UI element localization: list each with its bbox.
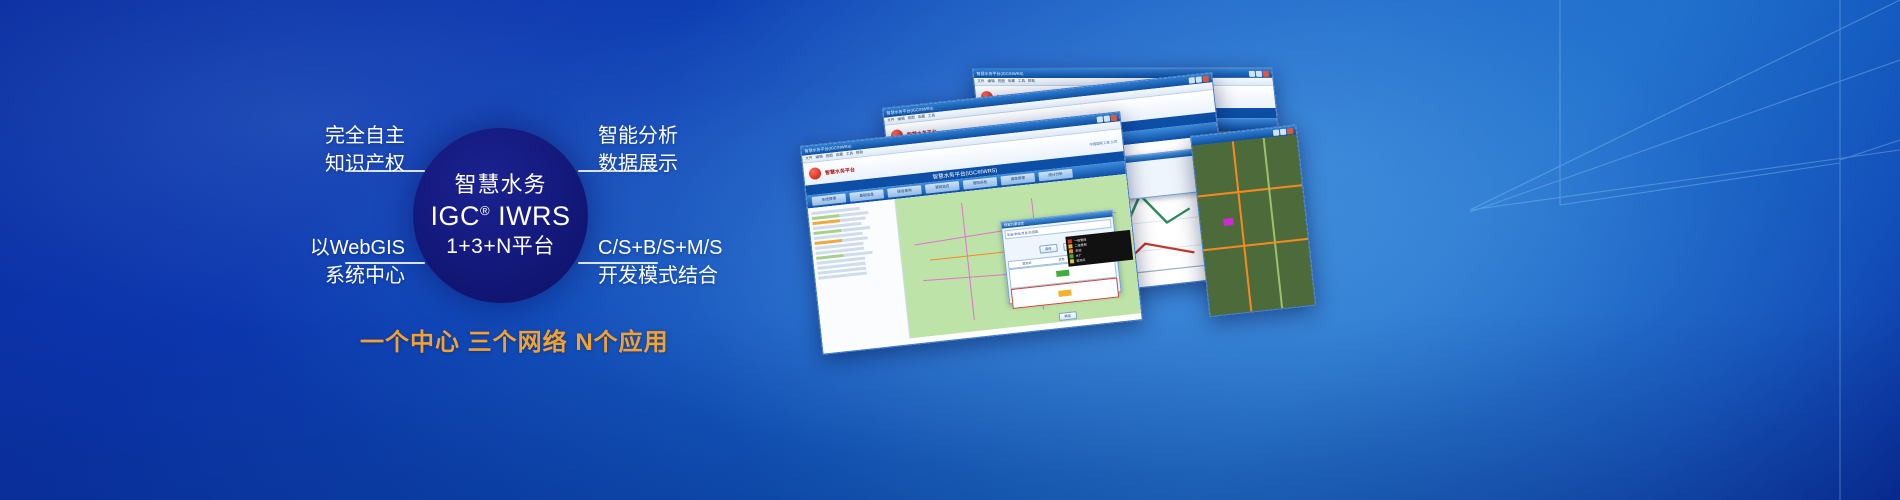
hub-brand-igc: IGC <box>430 201 480 231</box>
menu-item-2[interactable]: 视图 <box>997 79 1005 84</box>
maximize-icon[interactable] <box>1103 115 1110 122</box>
menu-item-1[interactable]: 编辑 <box>815 155 823 161</box>
central-hub-circle: 智慧水务 IGC® IWRS 1+3+N平台 <box>413 128 588 303</box>
minimize-icon[interactable] <box>1188 77 1195 84</box>
menu-item-3[interactable]: 收藏 <box>836 152 844 158</box>
legend-color-icon <box>1070 254 1074 258</box>
menu-item-3[interactable]: 收藏 <box>918 114 926 120</box>
close-icon[interactable] <box>1287 127 1294 134</box>
hub-title: 智慧水务 <box>454 173 546 198</box>
selection-highlight <box>1223 217 1234 225</box>
legend-color-icon <box>1070 259 1074 263</box>
legend-color-icon <box>1069 244 1073 248</box>
menu-item-1[interactable]: 编辑 <box>897 117 905 123</box>
close-icon[interactable] <box>1263 70 1270 76</box>
menu-item-4[interactable]: 工具 <box>846 151 854 157</box>
menu-item-2[interactable]: 视图 <box>825 154 833 160</box>
menu-item-5[interactable]: 帮助 <box>1028 79 1036 84</box>
hub-brand: IGC® IWRS <box>430 201 570 231</box>
feature-bottom-left-line1: 以WebGIS <box>190 235 405 263</box>
satellite-map-image-2 <box>1192 134 1316 316</box>
org-label-front: 中国国际工程 公司 <box>1089 138 1117 146</box>
minimize-icon[interactable] <box>1097 116 1104 123</box>
satellite-map-body[interactable] <box>1192 134 1316 316</box>
water-drop-logo-icon <box>808 167 821 180</box>
tagline-text: 一个中心 三个网络 N个应用 <box>360 322 669 357</box>
layer-tree-panel[interactable] <box>808 199 911 348</box>
feature-top-left-line2: 知识产权 <box>190 151 405 179</box>
hub-subtitle: 1+3+N平台 <box>446 235 555 259</box>
feature-bottom-left: 以WebGIS 系统中心 <box>190 235 405 290</box>
feature-bottom-left-line2: 系统中心 <box>190 263 405 291</box>
menu-item-4[interactable]: 工具 <box>928 113 936 119</box>
legend-color-icon <box>1069 249 1073 253</box>
menu-item-0[interactable]: 文件 <box>977 79 985 84</box>
registered-mark-icon: ® <box>480 203 490 218</box>
maximize-icon[interactable] <box>1256 70 1263 76</box>
hub-brand-iwrs: IWRS <box>498 201 571 231</box>
feature-top-left-line1: 完全自主 <box>190 123 405 151</box>
menu-item-0[interactable]: 文件 <box>887 118 895 124</box>
plan-dialog-confirm-button[interactable]: 确定 <box>1058 311 1077 321</box>
minimize-icon[interactable] <box>1249 70 1256 76</box>
gis-map-panel[interactable]: 预案方案设定 年度/季度/月度/日预案 查询 重置 监测点 状态 预警值 <box>895 174 1141 338</box>
legend-label-4: 监测点 <box>1076 258 1085 263</box>
app-window-satellite[interactable] <box>1190 124 1316 316</box>
status-swatch-green <box>1056 269 1070 276</box>
hero-banner: 智慧水务 IGC® IWRS 1+3+N平台 完全自主 知识产权 以WebGIS… <box>0 0 1900 500</box>
feature-top-left: 完全自主 知识产权 <box>190 123 405 178</box>
app-window-front[interactable]: 智慧水务平台(IGC®IWRS) 文件 编辑 视图 收藏 工具 帮助 智慧水务平… <box>800 111 1143 355</box>
maximize-icon[interactable] <box>1195 76 1202 83</box>
menu-item-1[interactable]: 编辑 <box>987 79 995 84</box>
legend-label-3: 水厂 <box>1076 253 1082 258</box>
menu-item-4[interactable]: 工具 <box>1018 79 1026 84</box>
status-swatch-amber <box>1058 289 1072 296</box>
maximize-icon[interactable] <box>1280 128 1287 135</box>
plan-dialog-query-button[interactable]: 查询 <box>1039 243 1058 253</box>
window-title-back: 智慧水务平台(IGC®IWRS) <box>976 70 1024 76</box>
legend-color-icon <box>1068 239 1072 243</box>
menu-item-0[interactable]: 文件 <box>805 156 813 162</box>
close-icon[interactable] <box>1110 114 1117 121</box>
brand-label-front: 智慧水务平台 <box>825 166 856 176</box>
window-controls-back[interactable] <box>1249 70 1270 76</box>
menu-item-5[interactable]: 帮助 <box>856 150 864 156</box>
menu-item-3[interactable]: 收藏 <box>1008 79 1016 84</box>
menu-item-2[interactable]: 视图 <box>907 116 915 122</box>
legend-label-2: 泵站 <box>1075 248 1081 253</box>
minimize-icon[interactable] <box>1273 129 1280 136</box>
screenshot-stack: 智慧水务平台(IGC®IWRS) 文件 编辑 视图 收藏 工具 帮助 智慧水务平… <box>790 50 1350 350</box>
close-icon[interactable] <box>1202 75 1209 82</box>
window-titlebar-back[interactable]: 智慧水务平台(IGC®IWRS) <box>973 69 1272 78</box>
